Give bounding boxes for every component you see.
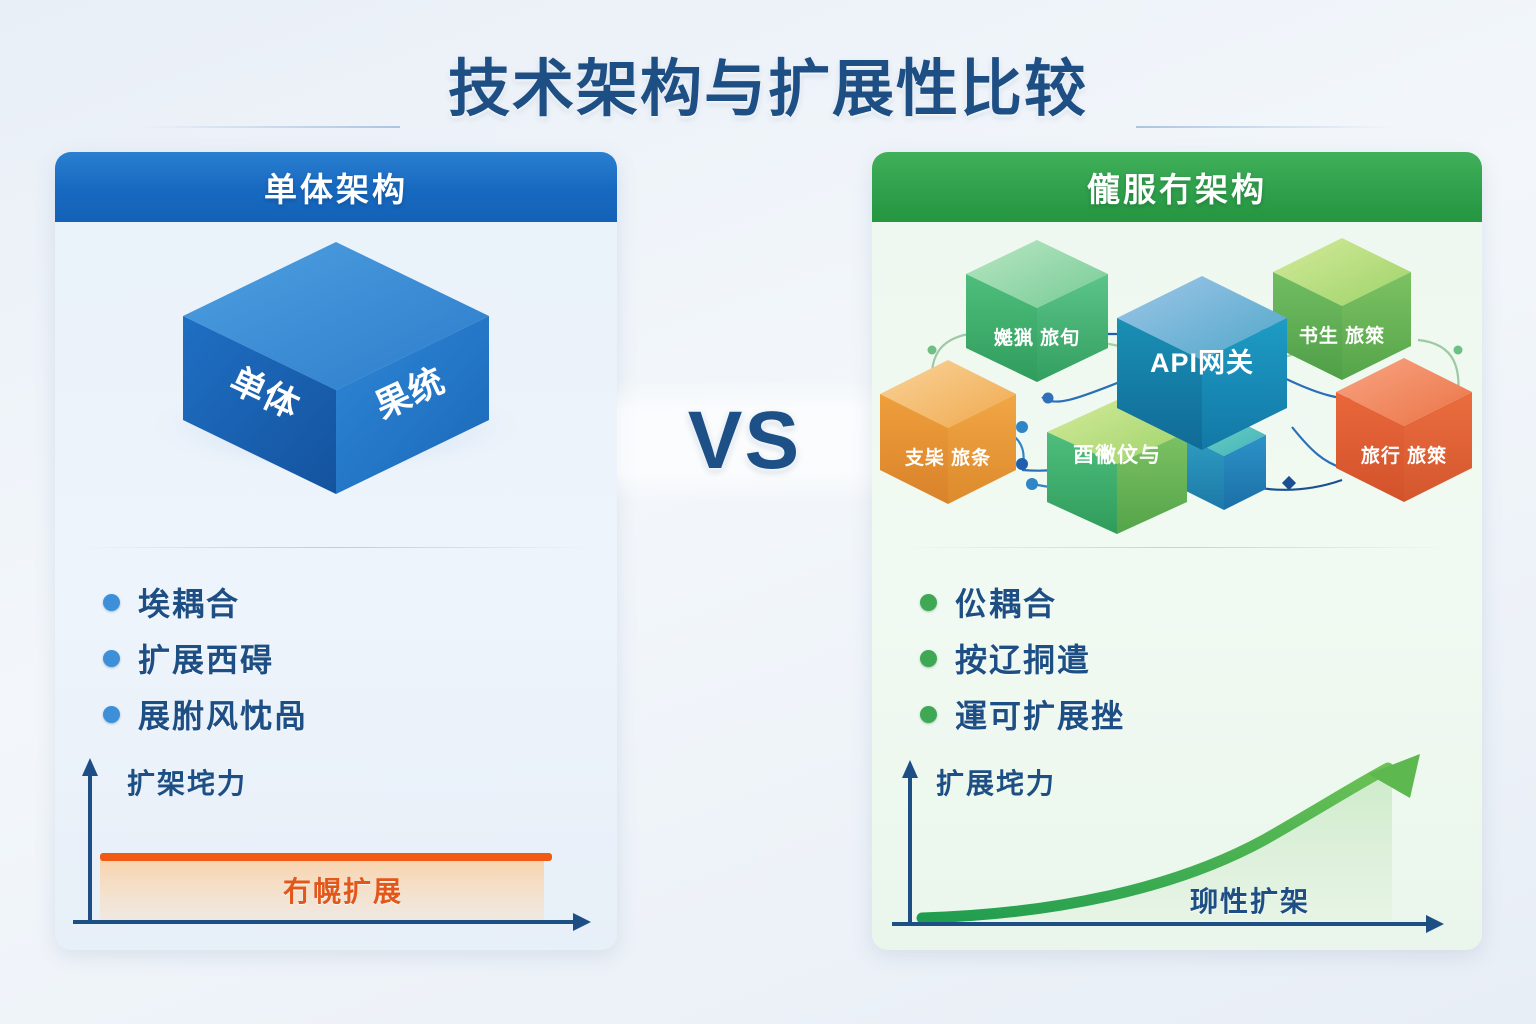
chart-y-axis-label: 扩架垞力 [127,762,247,802]
monolith-scalability-chart: 扩架垞力 冇幌扩展 [55,752,617,950]
page-title-container: 技术架构与扩展性比较 [0,38,1536,128]
list-item-label: 運可扩展挫 [955,691,1125,737]
page-title: 技术架构与扩展性比较 [448,38,1088,128]
service-cube-order-label: 书生 旅箂 [1299,324,1385,347]
monolith-panel-title: 单体架构 [264,163,408,211]
service-cube-user-label: 嬔猟 旅旬 [994,326,1080,349]
bullet-dot-icon [920,706,937,723]
chart-x-axis-arrow [573,913,591,931]
service-cube-payment: 支枈 旅条 [880,360,1016,504]
service-cube-user: 嬔猟 旅旬 [966,240,1108,382]
monolith-panel: 单体架构 [55,152,617,950]
bullet-dot-icon [103,594,120,611]
microservices-panel-title: 儱服冇架构 [1087,163,1267,211]
chart-y-axis-label: 扩展垞力 [936,762,1056,802]
bullet-dot-icon [103,706,120,723]
chart-flat-line [100,853,552,861]
monolith-feature-list: 埃耦合 扩展西碍 展胕风忱咼 [55,548,617,742]
list-item-label: 按辽挏遣 [955,635,1091,681]
service-cube-message-label: 酉徶伩与 [1073,443,1161,467]
title-rule-left [140,126,400,128]
microservices-panel: 儱服冇架构 [872,152,1482,950]
chart-y-axis-arrow [902,760,918,778]
list-item-label: 扩展西碍 [138,635,274,681]
api-gateway-label: API网关 [1150,348,1254,378]
infographic-canvas: 技术架构与扩展性比较 单体架构 [0,0,1536,1024]
microservices-feature-list: 伀耦合 按辽挏遣 運可扩展挫 [872,548,1482,742]
list-item-label: 展胕风忱咼 [138,691,308,737]
service-cube-payment-label: 支枈 旅条 [904,446,991,469]
monolith-section-divider [81,547,591,548]
microservices-diagram-svg: 嬔猟 旅旬 书生 旅箂 支枈 旅条 [872,222,1482,548]
chart-series-label: 珋性扩架 [1190,880,1310,920]
microservices-scalability-chart: 扩展垞力 珋性扩架 [872,752,1482,950]
list-item: 埃耦合 [103,574,617,630]
list-item-label: 伀耦合 [955,579,1057,625]
list-item: 按辽挏遣 [920,630,1482,686]
chart-series-label: 冇幌扩展 [283,870,403,910]
list-item: 扩展西碍 [103,630,617,686]
service-cube-logistics: 旅行 旅箂 [1336,358,1472,502]
microservices-panel-header: 儱服冇架构 [872,152,1482,222]
service-cube-logistics-label: 旅行 旅箂 [1361,444,1447,467]
bullet-dot-icon [920,650,937,667]
bullet-dot-icon [920,594,937,611]
list-item-label: 埃耦合 [138,579,240,625]
list-item: 展胕风忱咼 [103,686,617,742]
chart-y-axis-arrow [82,758,98,776]
monolith-illustration: 单体 果统 [55,222,617,548]
microservices-illustration: 嬔猟 旅旬 书生 旅箂 支枈 旅条 [872,222,1482,548]
microservices-section-divider [898,547,1456,548]
monolith-cube-svg: 单体 果统 [55,222,617,548]
service-cube-order: 书生 旅箂 [1273,238,1411,380]
list-item: 伀耦合 [920,574,1482,630]
bullet-dot-icon [103,650,120,667]
vs-label: VS [688,394,801,488]
title-rule-right [1136,126,1396,128]
monolith-panel-header: 单体架构 [55,152,617,222]
vs-badge: VS [617,380,872,502]
chart-x-axis-arrow [1426,915,1444,933]
list-item: 運可扩展挫 [920,686,1482,742]
